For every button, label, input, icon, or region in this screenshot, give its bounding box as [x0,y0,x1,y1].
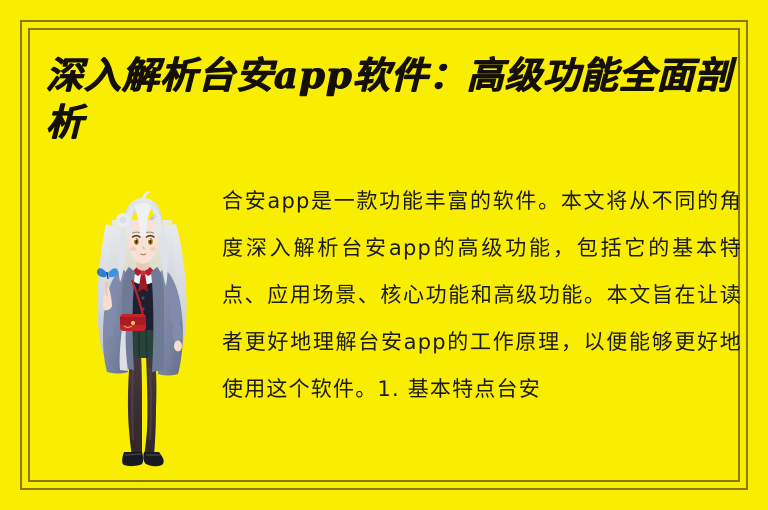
hair-bun-inner [120,217,127,224]
blush-right [150,247,157,251]
vest-button-1 [142,297,145,300]
poster-canvas: 深入解析台安app软件：高级功能全面剖析 [0,0,768,510]
pupil-right [149,240,151,244]
bag-clasp [131,321,135,325]
eye-glint-left [135,239,137,241]
article-body-text: 合安app是一款功能丰富的软件。本文将从不同的角度深入解析台安app的高级功能，… [222,178,742,413]
pupil-left [135,240,137,244]
ribbon-knot [140,270,145,275]
leg-highlight-right [150,368,151,440]
hand-right [174,341,182,352]
leg-left [128,356,142,456]
ahoge [142,191,151,199]
finger-index [106,282,107,296]
page-title: 深入解析台安app软件：高级功能全面剖析 [46,52,756,146]
eye-glint-right [149,239,151,241]
shoe-right [143,452,163,466]
leg-highlight-left [132,368,133,440]
anime-girl-illustration [62,168,222,468]
blush-left [130,247,137,251]
